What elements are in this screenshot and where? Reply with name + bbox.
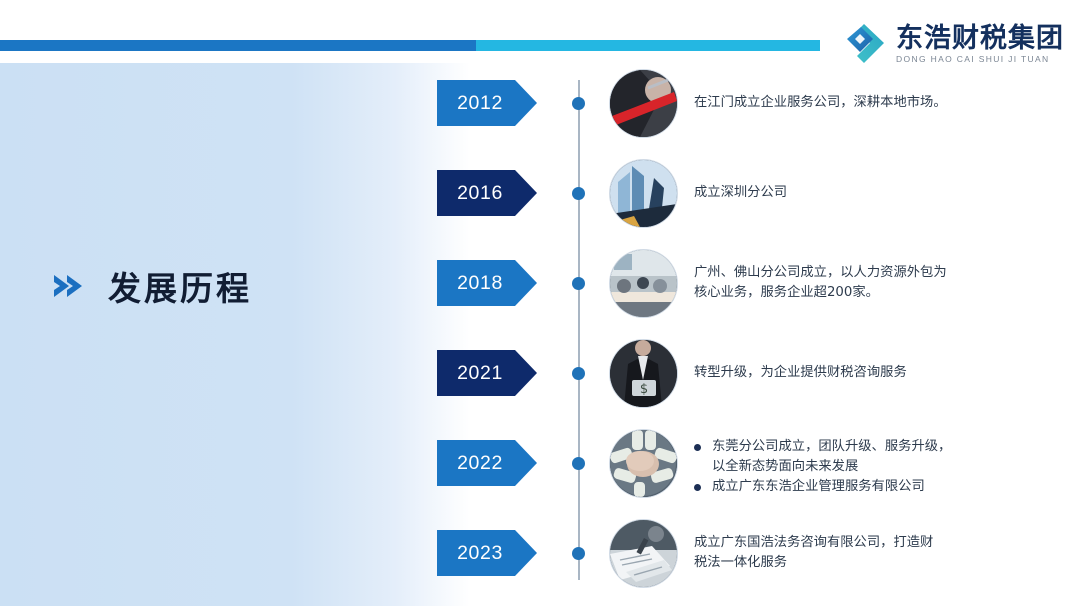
city-skyline-photo bbox=[610, 160, 677, 227]
timeline-row: 2021 $转型升级，为企业提供财税咨询服务 bbox=[0, 350, 1080, 414]
milestone-text-line: 东莞分公司成立，团队升级、服务升级， bbox=[712, 437, 951, 457]
documents-desk-photo bbox=[610, 520, 677, 587]
year-label: 2018 bbox=[437, 260, 523, 306]
timeline-node-dot bbox=[572, 457, 585, 470]
office-meeting-photo bbox=[610, 250, 677, 317]
timeline-node-dot bbox=[572, 97, 585, 110]
list-item: 东莞分公司成立，团队升级、服务升级，以全新态势面向未来发展 bbox=[694, 437, 1074, 477]
milestone-text-line: 以全新态势面向未来发展 bbox=[712, 457, 951, 477]
milestone-description: 转型升级，为企业提供财税咨询服务 bbox=[694, 350, 1064, 396]
milestone-text-line: 转型升级，为企业提供财税咨询服务 bbox=[694, 363, 1064, 383]
timeline-node-dot bbox=[572, 547, 585, 560]
slide-root: 东浩财税集团 DONG HAO CAI SHUI JI TUAN 发展历程 20… bbox=[0, 0, 1080, 606]
hands-together-teamwork-photo bbox=[610, 430, 677, 497]
milestone-text-line: 广州、佛山分公司成立，以人力资源外包为 bbox=[694, 263, 1064, 283]
milestone-description: 成立广东国浩法务咨询有限公司，打造财税法一体化服务 bbox=[694, 530, 1064, 576]
timeline: 2012 在江门成立企业服务公司，深耕本地市场。 2016 成立深圳分公司 20… bbox=[0, 0, 1080, 606]
milestone-text-line: 成立广东国浩法务咨询有限公司，打造财 bbox=[694, 533, 1064, 553]
timeline-node-dot bbox=[572, 367, 585, 380]
year-chip-2016[interactable]: 2016 bbox=[437, 170, 537, 216]
timeline-node-dot bbox=[572, 187, 585, 200]
year-label: 2023 bbox=[437, 530, 523, 576]
milestone-description: 成立深圳分公司 bbox=[694, 170, 1064, 216]
milestone-description: 在江门成立企业服务公司，深耕本地市场。 bbox=[694, 80, 1064, 126]
businessman-money-photo: $ bbox=[610, 340, 677, 407]
milestone-text-line: 成立广东东浩企业管理服务有限公司 bbox=[712, 477, 925, 497]
year-label: 2012 bbox=[437, 80, 523, 126]
timeline-spine bbox=[578, 80, 580, 580]
year-chip-2018[interactable]: 2018 bbox=[437, 260, 537, 306]
milestone-text-line: 在江门成立企业服务公司，深耕本地市场。 bbox=[694, 93, 1064, 113]
bullet-dot-icon bbox=[694, 444, 701, 451]
ribbon-cutting-photo bbox=[610, 70, 677, 137]
year-chip-2012[interactable]: 2012 bbox=[437, 80, 537, 126]
year-label: 2021 bbox=[437, 350, 523, 396]
timeline-row: 2018 广州、佛山分公司成立，以人力资源外包为核心业务，服务企业超200家。 bbox=[0, 260, 1080, 324]
bullet-dot-icon bbox=[694, 484, 701, 491]
milestone-text-line: 税法一体化服务 bbox=[694, 553, 1064, 573]
year-label: 2022 bbox=[437, 440, 523, 486]
milestone-bullet-list: 东莞分公司成立，团队升级、服务升级，以全新态势面向未来发展成立广东东浩企业管理服… bbox=[694, 437, 1074, 497]
timeline-row: 2022 东莞分公司成立，团队升级、服务升级，以全新态势面向未来发展成立广东东浩… bbox=[0, 440, 1080, 504]
list-item: 成立广东东浩企业管理服务有限公司 bbox=[694, 477, 1074, 497]
timeline-row: 2016 成立深圳分公司 bbox=[0, 170, 1080, 234]
year-chip-2022[interactable]: 2022 bbox=[437, 440, 537, 486]
timeline-node-dot bbox=[572, 277, 585, 290]
milestone-text-line: 成立深圳分公司 bbox=[694, 183, 1064, 203]
year-chip-2021[interactable]: 2021 bbox=[437, 350, 537, 396]
svg-text:$: $ bbox=[640, 382, 648, 397]
timeline-row: 2023 成立广东国浩法务咨询有限公司，打造财税法一体化服务 bbox=[0, 530, 1080, 594]
milestone-description: 广州、佛山分公司成立，以人力资源外包为核心业务，服务企业超200家。 bbox=[694, 260, 1064, 306]
year-label: 2016 bbox=[437, 170, 523, 216]
timeline-row: 2012 在江门成立企业服务公司，深耕本地市场。 bbox=[0, 80, 1080, 144]
year-chip-2023[interactable]: 2023 bbox=[437, 530, 537, 576]
milestone-text-line: 核心业务，服务企业超200家。 bbox=[694, 283, 1064, 303]
